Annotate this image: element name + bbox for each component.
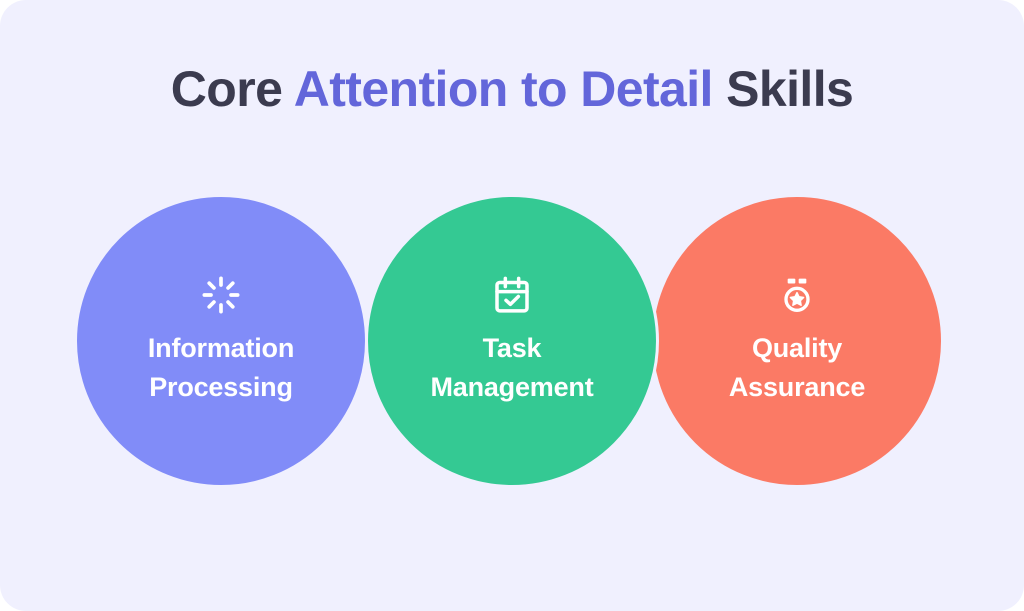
loader-icon [201,275,241,315]
skill-label-task-management: Task Management [430,329,593,407]
page-title-accent-text: Attention to Detail [294,61,713,117]
skill-label-information-processing: Information Processing [148,329,294,407]
infographic-canvas: Core Attention to Detail Skills Informat… [0,0,1024,611]
calendar-check-icon [492,275,532,315]
page-title-container: Core Attention to Detail Skills [0,61,1024,117]
medal-award-icon [777,275,817,315]
skill-circles-group: Information Processing Task Management [0,194,1024,490]
skill-label-quality-assurance: Quality Assurance [729,329,865,407]
page-title-leading-text: Core [171,61,294,117]
page-title: Core Attention to Detail Skills [0,61,1024,117]
skill-circle-quality-assurance[interactable]: Quality Assurance [650,194,944,488]
page-title-trailing-text: Skills [713,61,853,117]
skill-circle-task-management[interactable]: Task Management [365,194,659,488]
skill-circle-information-processing[interactable]: Information Processing [74,194,368,488]
